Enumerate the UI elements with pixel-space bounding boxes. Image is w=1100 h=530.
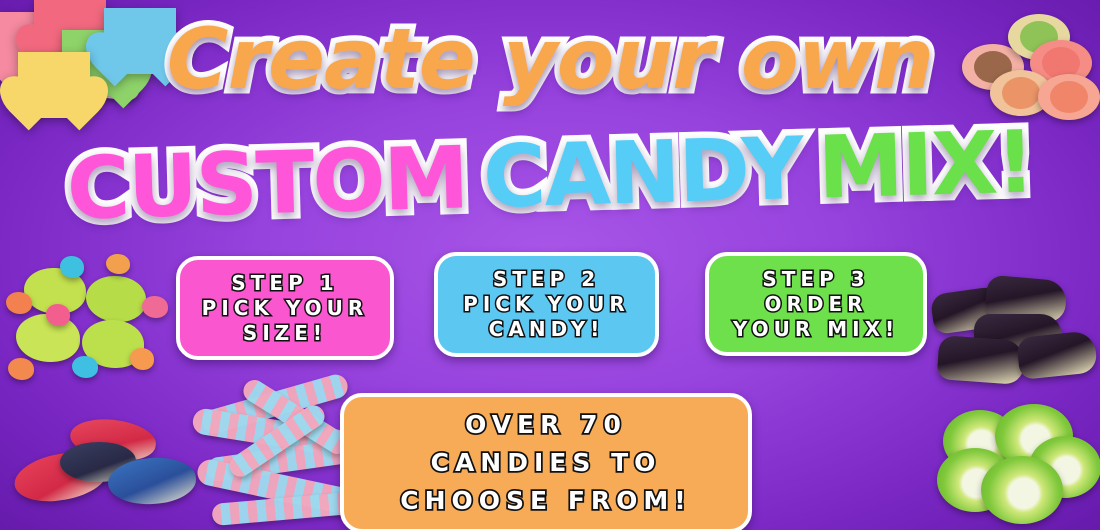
step-badge-2[interactable]: STEP 2 PICK YOUR CANDY! <box>434 252 659 357</box>
step-3-line-3: YOUR MIX! <box>733 317 899 342</box>
custom-candy-mix-banner: Create your own CUSTOM CANDY MIX! STEP 1… <box>0 0 1100 530</box>
promo-badge[interactable]: OVER 70 CANDIES TO CHOOSE FROM! <box>340 393 752 530</box>
headline-line-1: Create your own <box>0 14 1100 104</box>
promo-line-3: CHOOSE FROM! <box>400 482 691 520</box>
headline-word-candy: CANDY <box>482 121 804 226</box>
promo-line-2: CANDIES TO <box>431 444 662 482</box>
step-2-line-2: PICK YOUR <box>463 292 630 317</box>
gummy-fish-image <box>4 412 204 528</box>
step-badge-3[interactable]: STEP 3 ORDER YOUR MIX! <box>705 252 927 356</box>
headline-word-custom: CUSTOM <box>66 130 469 237</box>
green-apple-slices-image <box>937 400 1100 530</box>
step-1-line-3: SIZE! <box>243 321 327 346</box>
black-licorice-cats-image <box>922 272 1100 402</box>
step-2-title: STEP 2 <box>493 267 600 292</box>
step-3-line-2: ORDER <box>764 292 867 317</box>
step-1-title: STEP 1 <box>231 271 338 296</box>
step-badge-1[interactable]: STEP 1 PICK YOUR SIZE! <box>176 256 394 360</box>
promo-line-1: OVER 70 <box>465 406 627 444</box>
step-1-line-2: PICK YOUR <box>202 296 369 321</box>
gummy-frogs-image <box>2 252 177 392</box>
headline-word-mix: MIX! <box>817 115 1035 217</box>
step-3-title: STEP 3 <box>762 267 869 292</box>
step-2-line-3: CANDY! <box>489 317 605 342</box>
